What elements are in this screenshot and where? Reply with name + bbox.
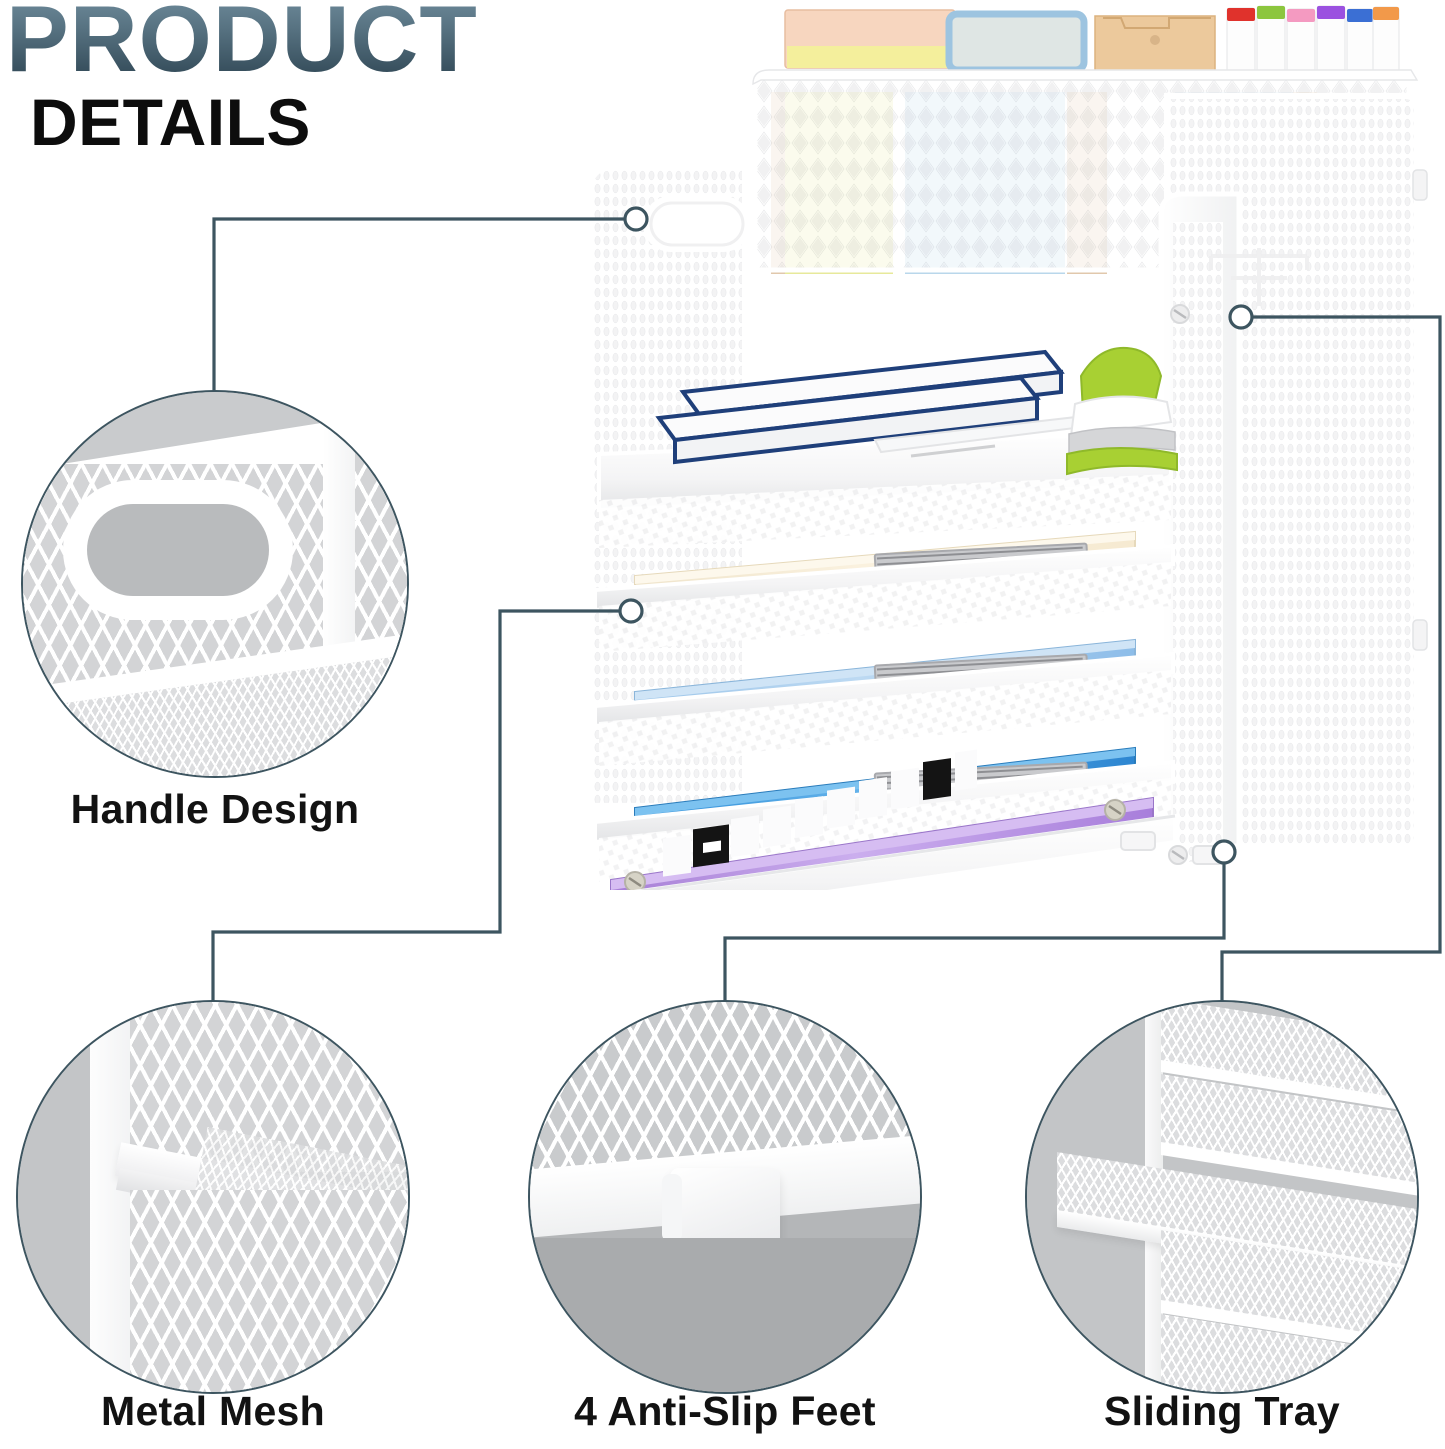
marker-dot-handle-design xyxy=(625,208,647,230)
callout-handle-design-circle xyxy=(21,390,409,778)
callout-metal-mesh-circle xyxy=(16,1000,410,1394)
marker-dot-anti-slip-feet xyxy=(1213,841,1235,863)
connector-handle-design xyxy=(214,219,625,392)
callout-sliding-tray-circle xyxy=(1025,1000,1419,1394)
callout-anti-slip-feet-label: 4 Anti-Slip Feet xyxy=(528,1388,922,1435)
connector-anti-slip-feet xyxy=(725,864,1224,1002)
callout-handle-design-label: Handle Design xyxy=(21,786,409,833)
connector-sliding-tray xyxy=(1222,317,1440,1002)
marker-dot-sliding-tray xyxy=(1230,306,1252,328)
callout-metal-mesh-label: Metal Mesh xyxy=(16,1388,410,1435)
callout-anti-slip-feet-circle xyxy=(528,1000,922,1394)
callout-sliding-tray-label: Sliding Tray xyxy=(1025,1388,1419,1435)
marker-dot-metal-mesh xyxy=(620,600,642,622)
